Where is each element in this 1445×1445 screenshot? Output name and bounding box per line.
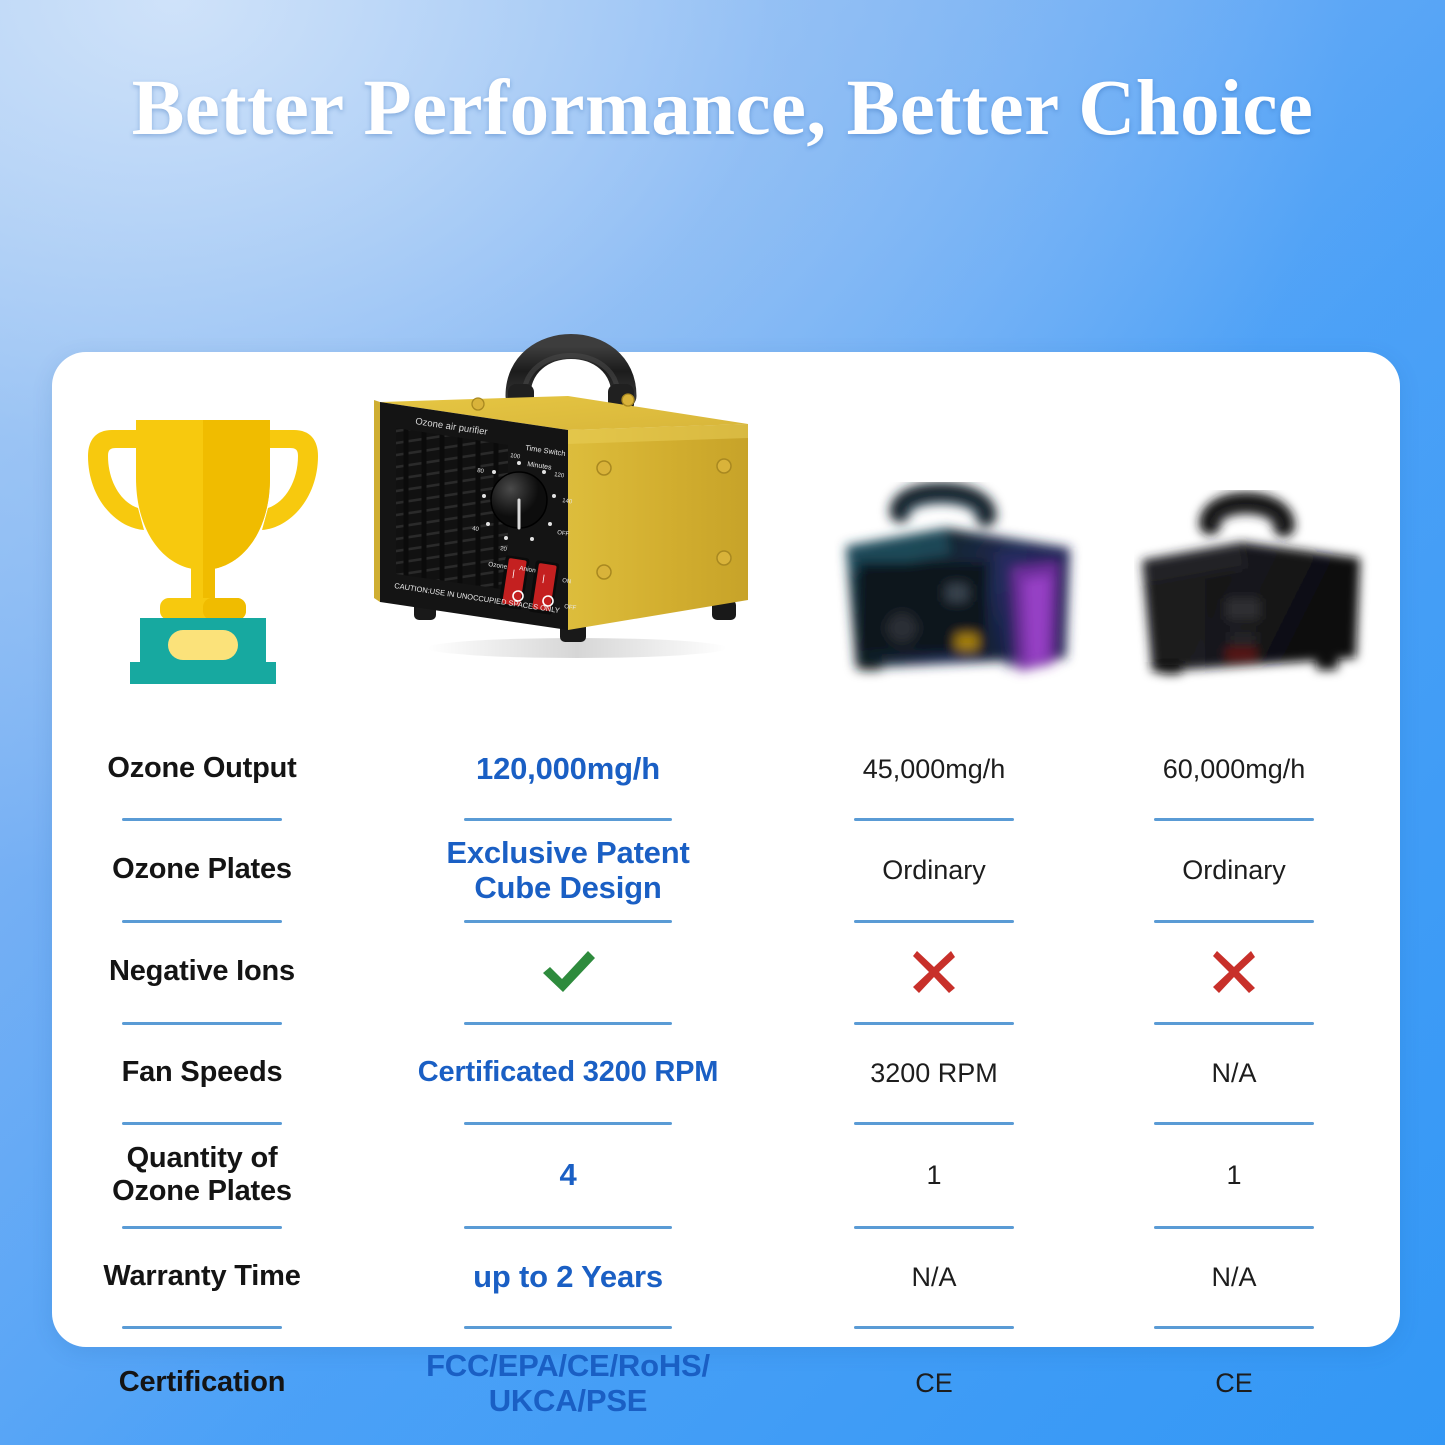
spec-label: Certification [119, 1366, 286, 1399]
competitor-2-cell: 60,000mg/h [1084, 732, 1384, 806]
table-row: Ozone Plates Exclusive PatentCube Design… [52, 832, 1400, 908]
feature-value-cell: up to 2 Years [352, 1240, 784, 1314]
feature-value: up to 2 Years [473, 1259, 663, 1294]
competitor-2-cell: 1 [1084, 1136, 1384, 1214]
row-divider [52, 1214, 1400, 1240]
spec-label: Ozone Plates [112, 853, 292, 886]
row-divider [52, 908, 1400, 934]
competitor-1-value: CE [915, 1367, 953, 1399]
spec-label: Negative Ions [109, 955, 295, 988]
row-label-cell: Ozone Output [52, 732, 352, 806]
row-label-cell: Quantity ofOzone Plates [52, 1136, 352, 1214]
feature-value: FCC/EPA/CE/RoHS/UKCA/PSE [426, 1348, 710, 1419]
feature-value-cell: 120,000mg/h [352, 732, 784, 806]
spec-label: Warranty Time [103, 1260, 300, 1293]
feature-value: Exclusive PatentCube Design [446, 835, 689, 906]
competitor-2-value: Ordinary [1182, 854, 1286, 886]
competitor-2-cell [1084, 934, 1384, 1010]
competitor-2-value: N/A [1211, 1261, 1256, 1293]
infographic-root: Better Performance, Better Choice [0, 0, 1445, 1445]
competitor-2-value: 60,000mg/h [1163, 753, 1306, 785]
competitor-2-cell: Ordinary [1084, 832, 1384, 908]
spec-label: Fan Speeds [122, 1056, 283, 1089]
trophy-icon [78, 392, 328, 684]
competitor-2-value: CE [1215, 1367, 1253, 1399]
table-row: Ozone Output 120,000mg/h 45,000mg/h 60,0… [52, 732, 1400, 806]
competitor-2-value: N/A [1211, 1057, 1256, 1089]
row-label-cell: Warranty Time [52, 1240, 352, 1314]
spec-label: Quantity ofOzone Plates [112, 1142, 292, 1208]
competitor-2-cell: N/A [1084, 1240, 1384, 1314]
featured-product-image: Ozone air purifier Time Switch Minutes 1… [372, 300, 768, 672]
table-row: Certification FCC/EPA/CE/RoHS/UKCA/PSE C… [52, 1340, 1400, 1426]
feature-value-cell: FCC/EPA/CE/RoHS/UKCA/PSE [352, 1340, 784, 1426]
row-label-cell: Negative Ions [52, 934, 352, 1010]
competitor-1-cell: 1 [784, 1136, 1084, 1214]
row-label-cell: Ozone Plates [52, 832, 352, 908]
competitor-1-cell: N/A [784, 1240, 1084, 1314]
feature-value-cell: Exclusive PatentCube Design [352, 832, 784, 908]
cross-icon [911, 946, 957, 998]
competitor-2-value: 1 [1226, 1159, 1241, 1191]
row-divider [52, 1110, 1400, 1136]
row-divider [52, 1010, 1400, 1036]
feature-value-cell: Certificated 3200 RPM [352, 1036, 784, 1110]
table-row: Fan Speeds Certificated 3200 RPM 3200 RP… [52, 1036, 1400, 1110]
cross-icon [1211, 946, 1257, 998]
competitor-2-cell: N/A [1084, 1036, 1384, 1110]
row-divider [52, 1314, 1400, 1340]
competitor-1-cell: Ordinary [784, 832, 1084, 908]
check-icon [538, 946, 598, 998]
competitor-1-cell: 45,000mg/h [784, 732, 1084, 806]
spec-label: Ozone Output [107, 752, 296, 785]
competitor-1-value: 1 [926, 1159, 941, 1191]
table-row: Negative Ions [52, 934, 1400, 1010]
competitor-1-cell [784, 934, 1084, 1010]
table-row: Quantity ofOzone Plates 4 1 1 [52, 1136, 1400, 1214]
competitor-1-image [834, 482, 1096, 696]
page-title: Better Performance, Better Choice [0, 68, 1445, 151]
row-label-cell: Certification [52, 1340, 352, 1426]
feature-value: 120,000mg/h [476, 751, 660, 786]
competitor-1-cell: 3200 RPM [784, 1036, 1084, 1110]
comparison-grid: Ozone Output 120,000mg/h 45,000mg/h 60,0… [52, 732, 1400, 1426]
competitor-1-value: N/A [911, 1261, 956, 1293]
feature-value: 4 [559, 1157, 576, 1192]
competitor-2-cell: CE [1084, 1340, 1384, 1426]
competitor-1-cell: CE [784, 1340, 1084, 1426]
competitor-1-value: 3200 RPM [870, 1057, 998, 1089]
feature-value: Certificated 3200 RPM [418, 1056, 718, 1089]
row-label-cell: Fan Speeds [52, 1036, 352, 1110]
competitor-2-image [1134, 490, 1378, 696]
feature-value-cell: 4 [352, 1136, 784, 1214]
table-row: Warranty Time up to 2 Years N/A N/A [52, 1240, 1400, 1314]
competitor-1-value: Ordinary [882, 854, 986, 886]
row-divider [52, 806, 1400, 832]
feature-value-cell [352, 934, 784, 1010]
competitor-1-value: 45,000mg/h [863, 753, 1006, 785]
